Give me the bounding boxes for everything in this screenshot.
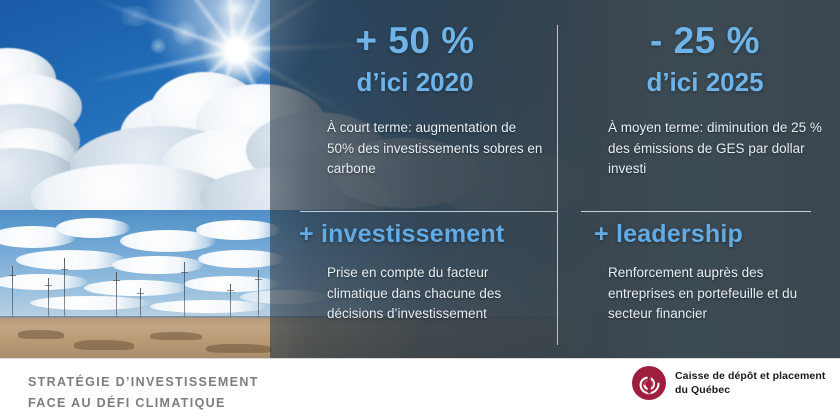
theme-description-leadership: Renforcement auprès des entreprises en p…	[580, 263, 830, 325]
sun-ray	[235, 49, 237, 50]
cdpq-spiral-logo-icon	[632, 366, 666, 400]
cloud-puff	[16, 250, 126, 270]
transmission-tower	[258, 270, 259, 318]
cloud-puff	[196, 220, 280, 240]
transmission-tower	[116, 272, 117, 318]
stat-value-50-percent: + 50 %	[285, 22, 545, 59]
theme-description-investissement: Prise en compte du facteur climatique da…	[285, 263, 545, 325]
quadrant-bottom-left: + investissement Prise en compte du fact…	[285, 220, 545, 325]
lens-flare	[150, 38, 166, 54]
quadrant-bottom-right: + leadership Renforcement auprès des ent…	[580, 220, 830, 325]
footer-title-line-2: FACE AU DÉFI CLIMATIQUE	[28, 393, 259, 414]
transmission-tower	[64, 258, 65, 318]
transmission-tower	[12, 266, 13, 318]
stat-horizon-2025: d’ici 2025	[580, 67, 830, 98]
footer-campaign-title: STRATÉGIE D’INVESTISSEMENT FACE AU DÉFI …	[28, 372, 259, 413]
stat-description-medium-term: À moyen terme: diminution de 25 % des ém…	[580, 118, 830, 180]
vertical-divider	[557, 25, 558, 345]
lens-flare	[172, 20, 198, 46]
stat-description-short-term: À court terme: augmentation de 50% des i…	[285, 118, 545, 180]
quadrant-top-right: - 25 % d’ici 2025 À moyen terme: diminut…	[580, 22, 830, 180]
transmission-tower	[230, 284, 231, 318]
transmission-tower	[184, 262, 185, 318]
quadrant-top-left: + 50 % d’ici 2020 À court terme: augment…	[285, 22, 545, 180]
stat-horizon-2020: d’ici 2020	[285, 67, 545, 98]
theme-title-investissement: + investissement	[285, 220, 545, 249]
ground-scrub	[206, 344, 272, 353]
cloud-puff	[112, 256, 204, 274]
footer-title-line-1: STRATÉGIE D’INVESTISSEMENT	[28, 372, 259, 393]
ground-scrub	[18, 330, 64, 339]
footer-divider	[0, 358, 840, 359]
cloud-puff	[150, 300, 268, 313]
transmission-tower	[48, 278, 49, 318]
climate-strategy-infographic: + 50 % d’ici 2020 À court terme: augment…	[0, 0, 840, 420]
transmission-tower	[140, 288, 141, 318]
theme-title-leadership: + leadership	[580, 220, 830, 249]
ground-scrub	[74, 340, 134, 350]
cloud-puff	[84, 280, 188, 296]
horizontal-divider-left	[300, 211, 557, 212]
lens-flare	[116, 6, 154, 26]
cdpq-logo-text: Caisse de dépôt et placement du Québec	[675, 369, 825, 397]
cdpq-logo-text-line-2: du Québec	[675, 383, 825, 397]
cdpq-logo-text-line-1: Caisse de dépôt et placement	[675, 369, 825, 383]
horizontal-divider-right	[581, 211, 811, 212]
stat-value-25-percent: - 25 %	[580, 22, 830, 59]
cloud-puff	[56, 218, 130, 238]
cdpq-logo: Caisse de dépôt et placement du Québec	[632, 366, 825, 400]
ground-scrub	[150, 332, 202, 340]
